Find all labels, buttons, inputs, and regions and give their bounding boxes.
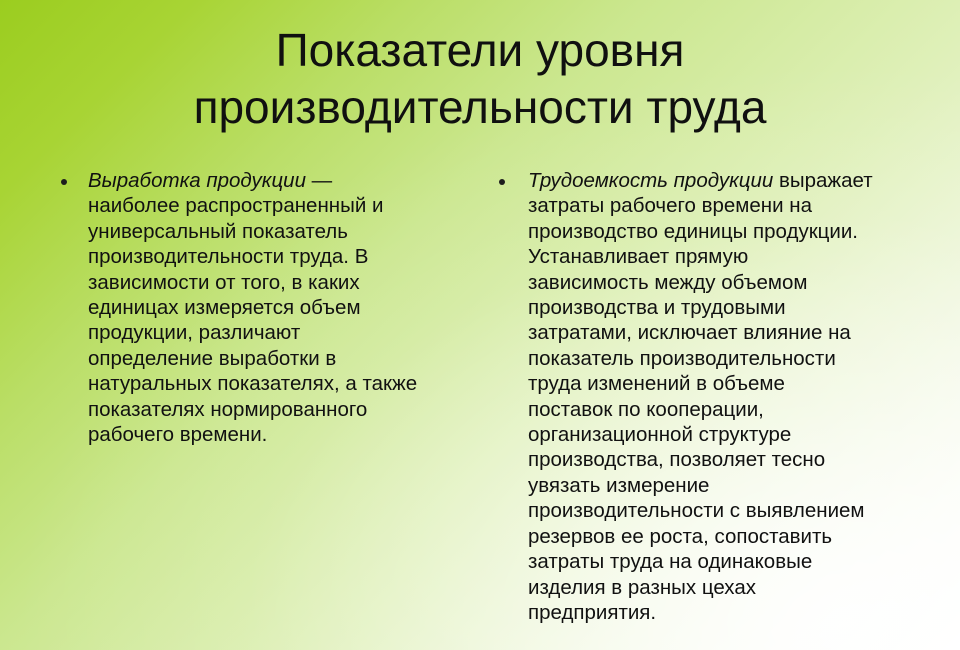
bullet-dot-icon: [61, 179, 67, 185]
list-item: Трудоемкость продукции выражает затраты …: [492, 168, 874, 625]
list-item: Выработка продукции — наиболее распростр…: [52, 168, 424, 447]
bullet-dot-icon: [499, 179, 505, 185]
bullet-paragraph: Выработка продукции — наиболее распростр…: [88, 168, 424, 447]
content-column-right: Трудоемкость продукции выражает затраты …: [492, 168, 874, 625]
bullet-term: Выработка продукции: [88, 169, 306, 192]
slide-canvas: Показатели уровня производительности тру…: [0, 0, 960, 650]
content-column-left: Выработка продукции — наиболее распростр…: [52, 168, 424, 447]
bullet-paragraph: Трудоемкость продукции выражает затраты …: [528, 168, 874, 625]
bullet-body: — наиболее распространенный и универсаль…: [88, 169, 417, 446]
bullet-body: выражает затраты рабочего времени на про…: [528, 169, 873, 624]
bullet-term: Трудоемкость продукции: [528, 169, 773, 192]
page-title: Показатели уровня производительности тру…: [0, 22, 960, 136]
